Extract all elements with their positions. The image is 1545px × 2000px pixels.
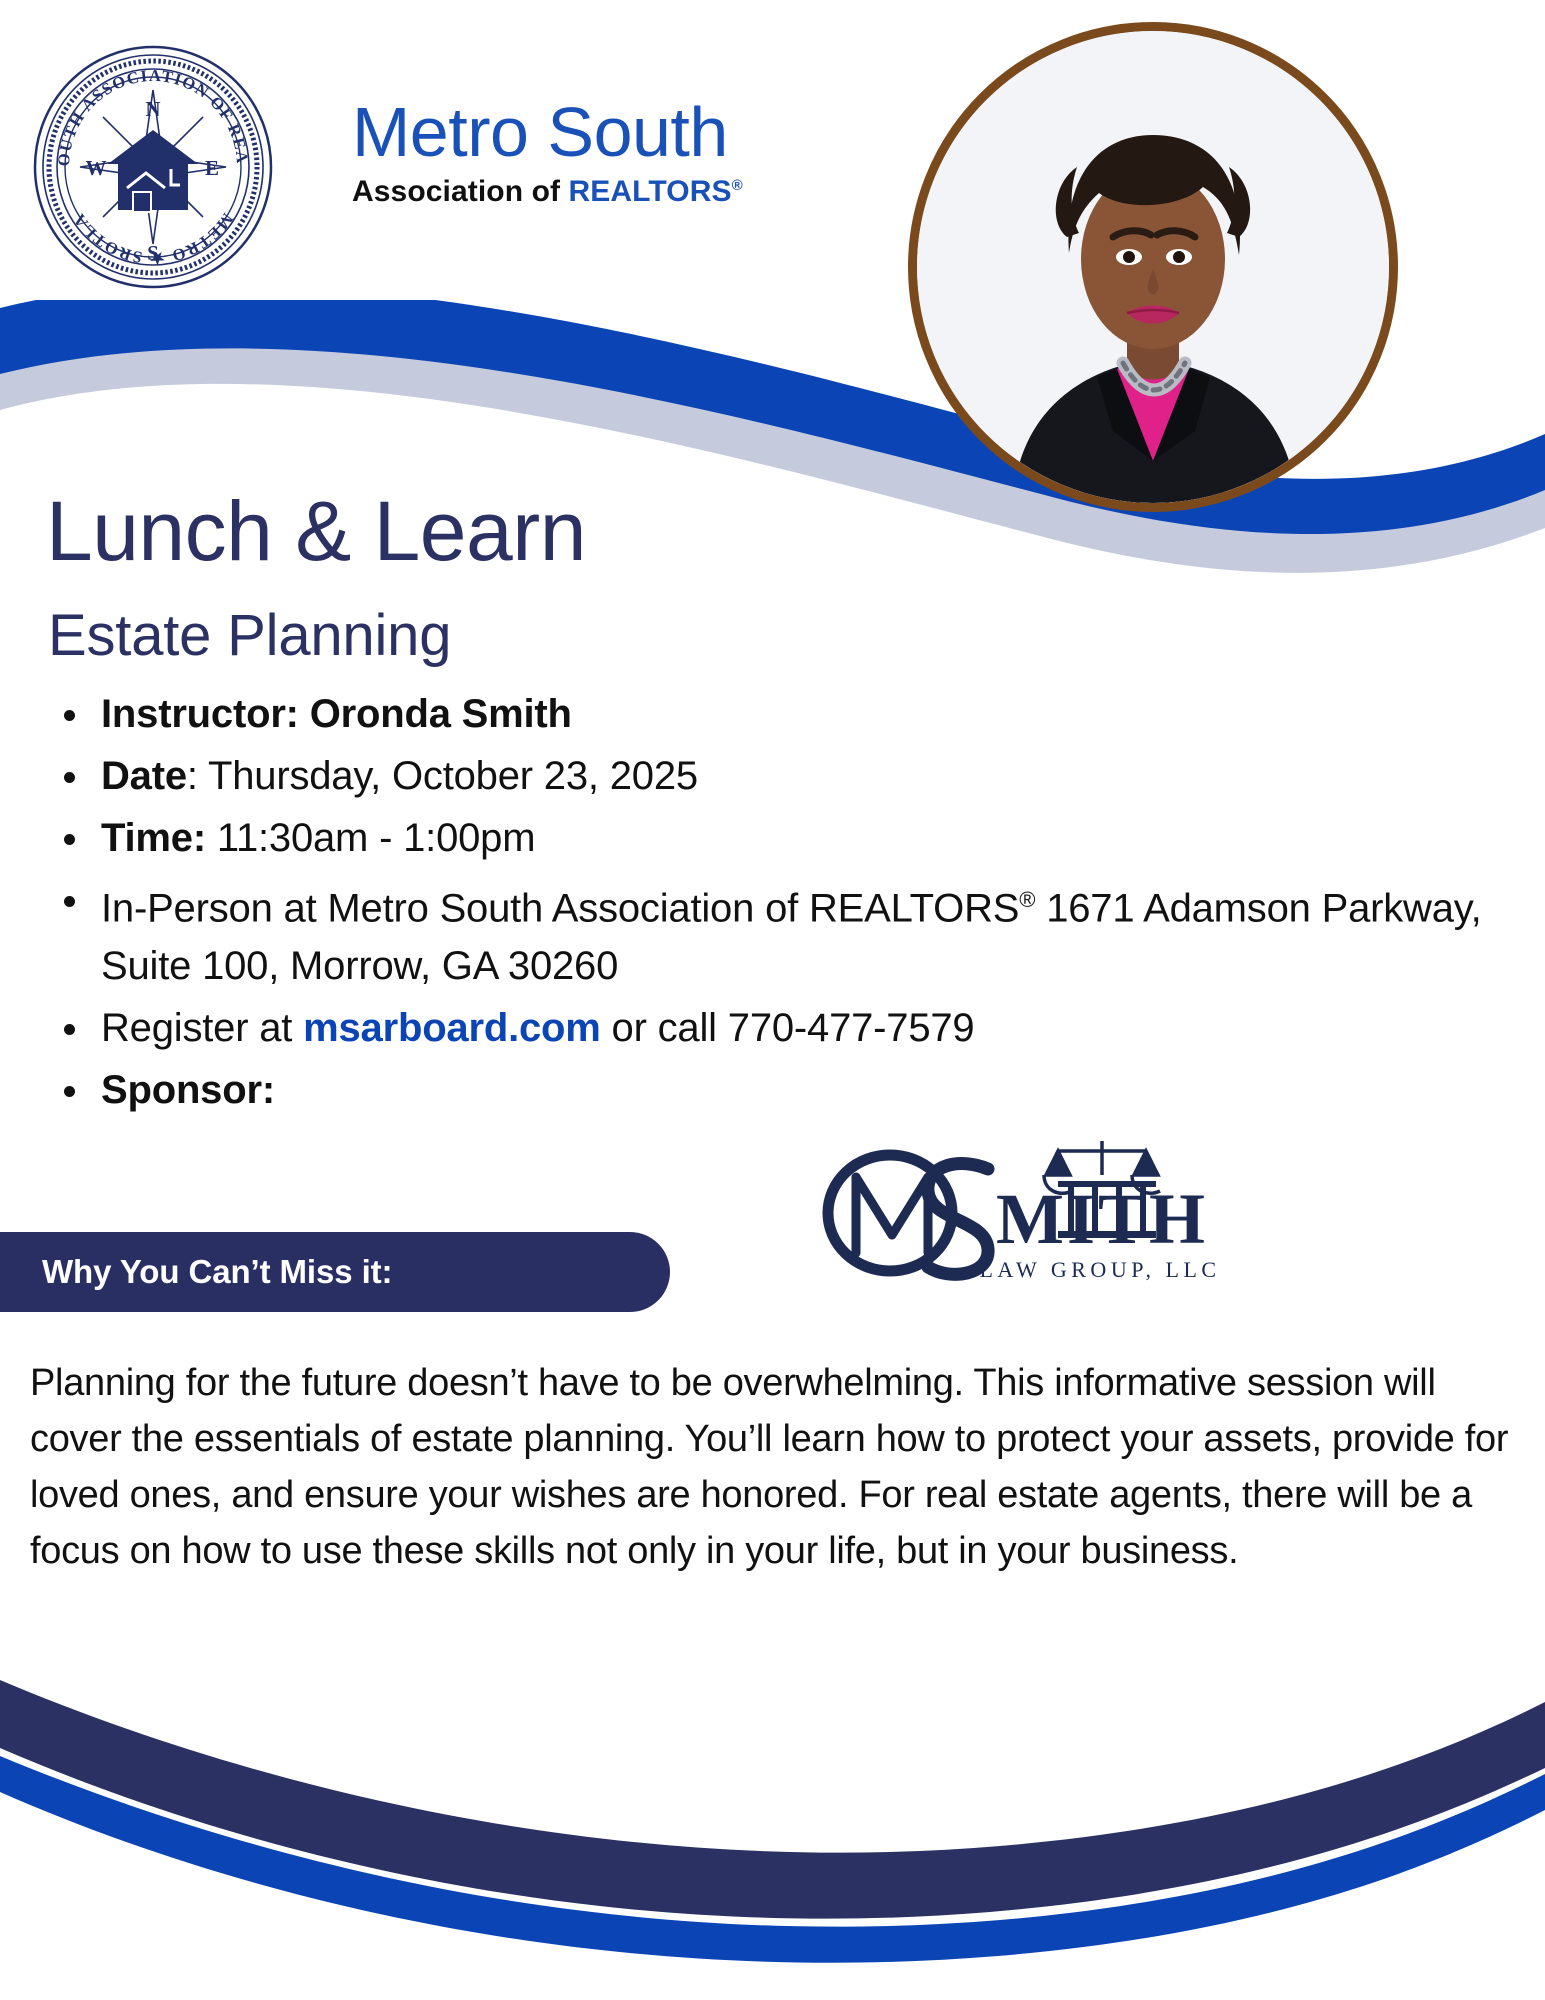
detail-date-value: : Thursday, October 23, 2025: [187, 754, 698, 798]
why-you-cant-miss-it-badge: Why You Can’t Miss it:: [0, 1232, 670, 1312]
registered-mark-icon: ®: [1019, 887, 1035, 912]
page-subtitle: Estate Planning: [48, 605, 451, 667]
detail-time: Time: 11:30am - 1:00pm: [46, 809, 1516, 867]
detail-sponsor: Sponsor:: [46, 1061, 1516, 1119]
session-description: Planning for the future doesn’t have to …: [30, 1355, 1510, 1579]
detail-venue: In-Person at Metro South Association of …: [46, 871, 1516, 995]
detail-time-label: Time:: [101, 816, 206, 860]
register-prefix: Register at: [101, 1006, 303, 1050]
portrait-illustration-icon: [917, 31, 1389, 503]
event-details-list: Instructor: Oronda Smith Date: Thursday,…: [46, 685, 1516, 1123]
detail-sponsor-label: Sponsor:: [101, 1068, 275, 1112]
detail-instructor-text: Instructor: Oronda Smith: [101, 692, 572, 736]
detail-register: Register at msarboard.com or call 770-47…: [46, 999, 1516, 1057]
instructor-photo-image: [917, 31, 1389, 503]
register-phone: or call 770-477-7579: [601, 1006, 975, 1050]
detail-date: Date: Thursday, October 23, 2025: [46, 747, 1516, 805]
detail-date-label: Date: [101, 754, 187, 798]
instructor-photo: [908, 22, 1398, 512]
detail-venue-text-a: In-Person at Metro South Association of …: [101, 886, 1019, 930]
smith-law-group-logo-icon: MITH LAW GROUP, LLC: [800, 1125, 1280, 1300]
why-badge-label: Why You Can’t Miss it:: [42, 1253, 392, 1291]
sponsor-wordmark: MITH: [996, 1179, 1208, 1259]
register-website-link[interactable]: msarboard.com: [303, 1006, 601, 1050]
flyer-page: SOUTH ASSOCIATION OF REAL METRO ★ SROTLA: [0, 0, 1545, 2000]
sponsor-tagline: LAW GROUP, LLC: [979, 1257, 1220, 1282]
detail-instructor: Instructor: Oronda Smith: [46, 685, 1516, 743]
sponsor-logo-smith-law-group: MITH LAW GROUP, LLC: [800, 1125, 1280, 1300]
page-title: Lunch & Learn: [46, 487, 586, 575]
detail-time-value: 11:30am - 1:00pm: [206, 816, 535, 860]
